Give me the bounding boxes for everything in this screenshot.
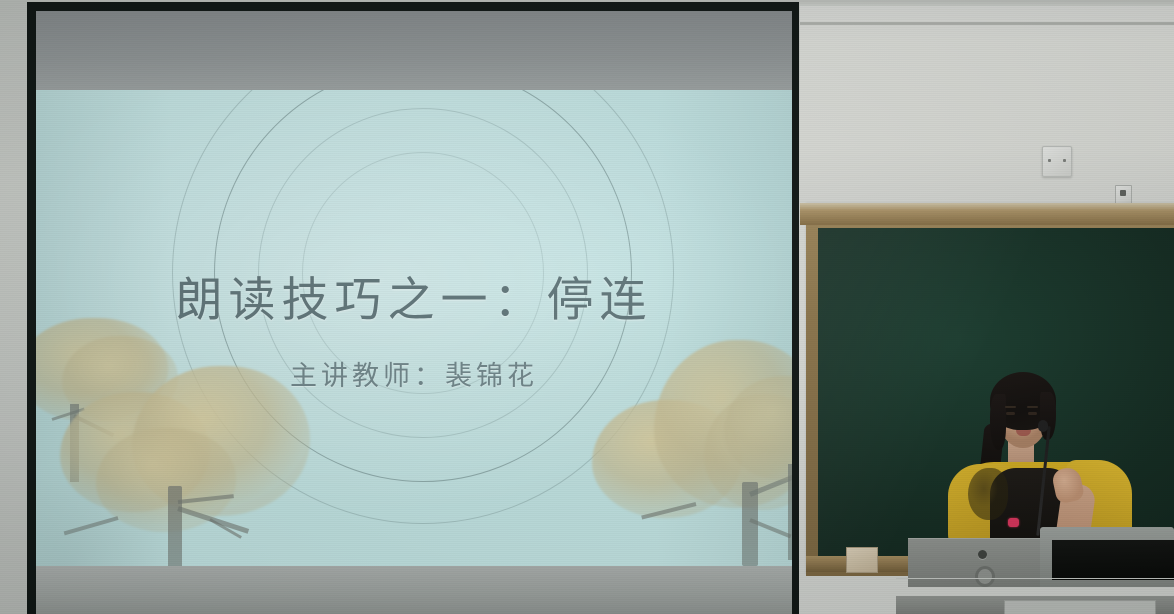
podium-control-panel[interactable] bbox=[1004, 600, 1156, 614]
chalkboard-frame-top-molding bbox=[800, 203, 1174, 225]
presentation-slide: 朗读技巧之一：停连 主讲教师：裴锦花 bbox=[36, 90, 792, 566]
wall-seam-line bbox=[800, 22, 1174, 25]
presenter-brow-right bbox=[1027, 406, 1038, 408]
lecture-hall-scene: 朗读技巧之一：停连 主讲教师：裴锦花 bbox=[0, 0, 1174, 614]
light-switch-plate[interactable] bbox=[1042, 146, 1072, 177]
wall-upper-right bbox=[800, 0, 1174, 210]
slide-subtitle: 主讲教师：裴锦花 bbox=[36, 354, 792, 393]
microphone-icon bbox=[1038, 420, 1048, 432]
screen-top-band bbox=[36, 11, 792, 90]
presenter-red-clip bbox=[1008, 518, 1019, 527]
presenter-eye-left bbox=[1006, 412, 1015, 415]
monitor-screen[interactable] bbox=[1052, 540, 1174, 580]
presenter-brow-left bbox=[1005, 406, 1016, 408]
presenter-hair-left bbox=[990, 394, 1006, 450]
wall-left-strip bbox=[0, 0, 27, 614]
presenter-lace-applique bbox=[968, 468, 1008, 520]
slide-title: 朗读技巧之一：停连 bbox=[36, 261, 792, 330]
podium-knob[interactable] bbox=[978, 550, 987, 559]
chalk-box bbox=[846, 547, 878, 573]
screen-bottom-band bbox=[36, 566, 792, 614]
presenter-eye-right bbox=[1028, 412, 1037, 415]
